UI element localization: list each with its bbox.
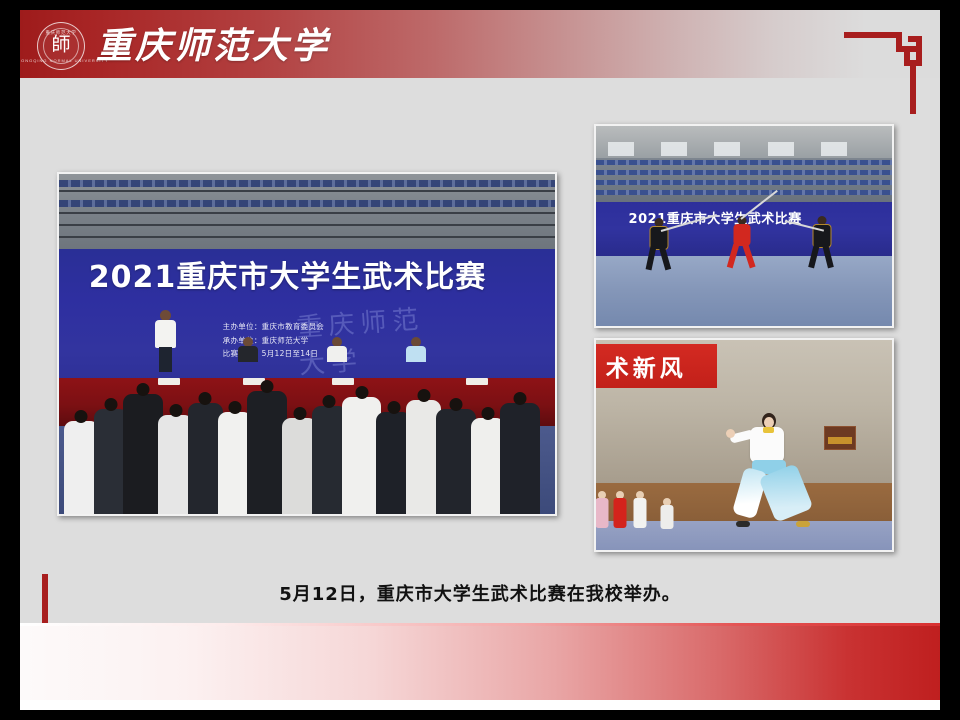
university-seal-icon: 重庆师范大学 師 CHONGQING NORMAL UNIVERSITY xyxy=(37,22,85,70)
stand-rail xyxy=(59,212,555,214)
banner-main-title: 2021重庆市大学生武术比赛 xyxy=(89,261,487,295)
gymnasium-upper-wall xyxy=(596,126,892,158)
window-panel xyxy=(608,142,634,156)
stand-seat-row xyxy=(596,170,892,175)
banner-line-2: 承办单位：重庆师范大学 xyxy=(223,336,309,345)
crowd-person xyxy=(500,403,540,514)
window-panel xyxy=(768,142,794,156)
athlete-black-uniform xyxy=(809,216,835,276)
stand-rail xyxy=(59,236,555,238)
seated-official xyxy=(238,337,258,361)
window-panel xyxy=(661,142,687,156)
stand-rail xyxy=(59,190,555,192)
banner-line-1: 主办单位：重庆市教育委员会 xyxy=(223,322,324,331)
seal-center-mark: 師 xyxy=(51,36,70,55)
opening-ceremony-photo: 重庆师范大学 2021重庆市大学生武术比赛 主办单位：重庆市教育委员会 承办单位… xyxy=(57,172,557,516)
stand-seat-row xyxy=(596,190,892,195)
footer-base-strip xyxy=(20,700,940,710)
spectator-stands xyxy=(596,158,892,202)
stand-seat-row xyxy=(59,200,555,207)
crowd-person xyxy=(436,409,476,514)
speaker-at-podium xyxy=(153,310,179,372)
university-name-title: 重庆师范大学 xyxy=(96,24,330,68)
slide-header-banner: 重庆师范大学 師 CHONGQING NORMAL UNIVERSITY 重庆师… xyxy=(20,10,940,78)
red-slogan-banner: 术新风 xyxy=(596,344,717,388)
slide-caption: 5月12日，重庆市大学生武术比赛在我校举办。 xyxy=(20,582,940,608)
wall-plaque xyxy=(824,426,856,450)
student-crowd xyxy=(59,364,555,514)
slide-stage: 重庆师范大学 師 CHONGQING NORMAL UNIVERSITY 重庆师… xyxy=(0,0,960,720)
presentation-slide: 重庆师范大学 師 CHONGQING NORMAL UNIVERSITY 重庆师… xyxy=(20,10,940,710)
crowd-person xyxy=(123,394,163,514)
top-right-corner-ornament xyxy=(844,32,922,114)
weapon-routine-photo: 2021重庆市大学生武术比赛 xyxy=(594,124,894,328)
seated-official xyxy=(406,337,426,361)
red-banner-text: 术新风 xyxy=(606,349,687,383)
taichi-performer xyxy=(726,413,812,525)
stand-seat-row xyxy=(59,180,555,187)
crowd-person xyxy=(342,397,382,514)
athlete-red-uniform xyxy=(729,216,755,276)
seated-official xyxy=(327,337,347,361)
footer-gradient-band xyxy=(20,626,940,700)
stand-seat-row xyxy=(596,160,892,165)
stand-seat-row xyxy=(596,180,892,185)
stand-rail xyxy=(59,224,555,226)
window-panel xyxy=(821,142,847,156)
crowd-person xyxy=(247,391,287,514)
window-panel xyxy=(714,142,740,156)
taichi-performance-photo: 术新风 xyxy=(594,338,894,552)
